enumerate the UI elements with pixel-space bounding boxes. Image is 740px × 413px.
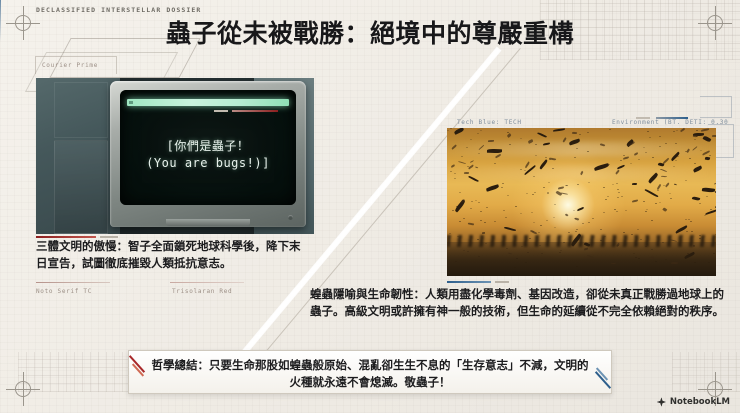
locust-icon — [665, 183, 670, 188]
locust-speck — [492, 150, 494, 151]
left-caption: 三體文明的傲慢：智子全面鎖死地球科學後，降下末日宣告，試圖徹底摧毀人類抵抗意志。 — [36, 238, 308, 273]
locust-speck — [587, 151, 589, 152]
locust-icon — [537, 132, 547, 139]
locust-speck — [480, 211, 482, 212]
locust-speck — [559, 252, 561, 253]
locust-speck — [621, 196, 623, 197]
locust-speck — [617, 197, 619, 198]
locust-speck — [554, 204, 556, 205]
locust-speck — [614, 209, 616, 210]
locust-speck — [568, 232, 570, 233]
locust-speck — [506, 248, 508, 249]
locust-speck — [699, 238, 701, 239]
tick-marker-grey-right-top — [636, 117, 650, 119]
locust-speck — [696, 136, 698, 137]
locust-speck — [576, 229, 578, 230]
locust-speck — [452, 210, 454, 211]
locust-speck — [694, 163, 696, 164]
locust-speck — [533, 222, 535, 223]
locust-speck — [685, 151, 687, 152]
locust-speck — [543, 187, 545, 188]
locust-speck — [670, 198, 672, 199]
locust-speck — [466, 147, 468, 148]
monitor-stand — [166, 219, 250, 226]
label-courier-prime: Courier Prime — [42, 62, 98, 69]
locust-icon — [623, 157, 630, 161]
right-caption: 蝗蟲隱喻與生命韌性：人類用盡化學毒劑、基因改造，卻從未真正戰勝過地球上的蟲子。高… — [310, 286, 728, 321]
locust-speck — [549, 159, 551, 160]
locust-speck — [588, 222, 590, 223]
sparkle-icon — [657, 398, 666, 407]
locust-speck — [676, 130, 678, 131]
locust-speck — [600, 229, 602, 230]
locust-speck — [520, 138, 522, 139]
locust-speck — [547, 192, 549, 193]
locust-icon — [470, 160, 474, 163]
rule-noto — [36, 282, 110, 283]
locust-speck — [616, 183, 618, 184]
locust-icon — [704, 157, 710, 161]
locust-icon — [701, 128, 709, 131]
locust-speck — [531, 212, 533, 213]
locust-speck — [694, 262, 696, 263]
conclusion-text: 哲學總結：只要生命那股如蝗蟲般原始、混亂卻生生不息的「生存意志」不減，文明的火種… — [151, 357, 589, 392]
locust-speck — [609, 129, 611, 130]
locust-speck — [699, 203, 701, 204]
locust-speck — [467, 251, 469, 252]
locust-speck — [690, 221, 692, 222]
kicker-label: DECLASSIFIED INTERSTELLAR DOSSIER — [36, 6, 201, 14]
locust-speck — [463, 218, 465, 219]
tick-marker-blue-right-top — [656, 117, 688, 119]
locust-speck — [640, 239, 642, 240]
locust-speck — [607, 196, 609, 197]
locust-speck — [461, 156, 463, 157]
slide-canvas: DECLASSIFIED INTERSTELLAR DOSSIER 蟲子從未被戰… — [0, 0, 740, 413]
locust-speck — [509, 144, 511, 145]
locust-speck — [566, 185, 568, 186]
locust-speck — [541, 253, 543, 254]
tech-bracket-upper — [700, 96, 732, 118]
locust-icon — [454, 128, 465, 135]
locust-speck — [704, 215, 706, 216]
locust-speck — [655, 203, 657, 204]
locust-icon — [552, 128, 564, 131]
locust-icon — [458, 161, 466, 165]
locust-icon — [663, 207, 667, 211]
locust-speck — [484, 222, 486, 223]
locust-icon — [662, 158, 670, 165]
locust-speck — [554, 227, 556, 228]
locust-speck — [617, 189, 619, 190]
page-title: 蟲子從未被戰勝：絕境中的尊嚴重構 — [0, 14, 740, 50]
locust-icon — [482, 232, 485, 234]
locust-speck — [553, 217, 555, 218]
locust-speck — [673, 131, 675, 132]
locust-speck — [575, 231, 577, 232]
locust-speck — [515, 206, 517, 207]
locust-speck — [477, 133, 479, 134]
locust-speck — [706, 196, 708, 197]
locust-icon — [671, 262, 678, 265]
locust-speck — [709, 155, 711, 156]
locust-speck — [623, 232, 625, 233]
locust-icon — [504, 226, 516, 231]
locust-speck — [459, 221, 461, 222]
locust-speck — [546, 220, 548, 221]
locust-speck — [665, 259, 667, 260]
locust-speck — [631, 234, 633, 235]
locust-icon — [631, 199, 638, 202]
crosshair-icon-bottom-left — [6, 372, 40, 406]
conclusion-box: 哲學總結：只要生命那股如蝗蟲般原始、混亂卻生生不息的「生存意志」不減，文明的火種… — [128, 350, 612, 394]
label-noto-serif: Noto Serif TC — [36, 288, 92, 295]
locust-icon — [468, 222, 474, 225]
locust-speck — [447, 130, 449, 131]
locust-speck — [524, 170, 526, 171]
crt-monitor-image: [你們是蟲子！ (You are bugs!)] — [36, 78, 314, 234]
locust-speck — [526, 193, 528, 194]
locust-icon — [577, 206, 584, 210]
locust-speck — [470, 208, 472, 209]
locust-speck — [689, 158, 691, 159]
locust-speck — [573, 210, 575, 211]
locust-speck — [521, 246, 523, 247]
locust-icon — [692, 197, 700, 202]
locust-speck — [612, 184, 614, 185]
locust-icon — [702, 187, 716, 192]
locust-speck — [505, 217, 507, 218]
locust-speck — [548, 182, 550, 183]
locust-speck — [685, 180, 687, 181]
locust-icon — [675, 225, 688, 234]
locust-speck — [651, 249, 653, 250]
locust-speck — [538, 232, 540, 233]
locust-speck — [708, 262, 710, 263]
locust-speck — [478, 202, 480, 203]
locust-speck — [625, 210, 627, 211]
locust-speck — [560, 250, 562, 251]
locust-speck — [691, 231, 693, 232]
locust-speck — [647, 131, 649, 132]
locust-icon — [649, 257, 654, 259]
locust-speck — [617, 245, 619, 246]
locust-speck — [454, 173, 456, 174]
locust-icon — [712, 135, 716, 137]
locust-speck — [637, 229, 639, 230]
locust-speck — [507, 195, 509, 196]
monitor-power-led — [288, 215, 293, 220]
locust-speck — [659, 136, 661, 137]
locust-icon — [488, 140, 494, 142]
locust-speck — [480, 220, 482, 221]
locust-speck — [454, 178, 456, 179]
locust-speck — [588, 182, 590, 183]
locust-speck — [576, 148, 578, 149]
locust-speck — [685, 219, 687, 220]
locust-speck — [659, 202, 661, 203]
monitor-bezel: [你們是蟲子！ (You are bugs!)] — [110, 81, 306, 227]
locust-speck — [582, 223, 584, 224]
brand-label: NotebookLM — [670, 397, 730, 407]
locust-speck — [630, 163, 632, 164]
locust-speck — [638, 159, 640, 160]
locust-speck — [477, 239, 479, 240]
locust-speck — [502, 183, 504, 184]
locust-icon — [565, 213, 569, 217]
locust-speck — [534, 192, 536, 193]
locust-speck — [475, 200, 477, 201]
locust-speck — [635, 257, 637, 258]
locust-speck — [450, 171, 452, 172]
monitor-screen: [你們是蟲子！ (You are bugs!)] — [120, 90, 296, 205]
locust-icon — [558, 187, 564, 190]
locust-speck — [620, 160, 622, 161]
locust-speck — [618, 192, 620, 193]
locust-speck — [532, 194, 534, 195]
locust-speck — [693, 246, 695, 247]
locust-speck — [480, 130, 482, 131]
label-trisolaran-red: Trisolaran Red — [172, 288, 232, 295]
locust-icon — [656, 184, 661, 190]
locust-speck — [503, 210, 505, 211]
locust-icon — [572, 132, 578, 135]
locust-speck — [646, 209, 648, 210]
locust-speck — [677, 156, 679, 157]
locust-speck — [645, 152, 647, 153]
monitor-message-line1: [你們是蟲子！ — [120, 138, 296, 155]
locust-icon — [632, 183, 637, 186]
locust-speck — [577, 184, 579, 185]
locust-speck — [633, 253, 635, 254]
locust-speck — [651, 220, 653, 221]
tick-marker-blue-right — [447, 281, 491, 283]
locust-speck — [686, 231, 688, 232]
locust-speck — [652, 157, 654, 158]
locust-speck — [450, 128, 452, 129]
tick-marker-red-left — [232, 110, 278, 112]
monitor-message-line2: (You are bugs!)] — [120, 155, 296, 172]
locust-speck — [600, 240, 602, 241]
locust-speck — [696, 130, 698, 131]
tick-marker-grey-right — [495, 281, 509, 283]
locust-speck — [470, 139, 472, 140]
locust-speck — [699, 235, 701, 236]
notebooklm-brand: NotebookLM — [657, 397, 730, 407]
locust-speck — [700, 150, 702, 151]
monitor-message: [你們是蟲子！ (You are bugs!)] — [120, 138, 296, 173]
locust-speck — [657, 190, 659, 191]
locust-speck — [486, 207, 488, 208]
locust-speck — [520, 213, 522, 214]
locust-speck — [608, 164, 610, 165]
rule-trisolaran — [170, 282, 244, 283]
horizon-treeline — [447, 242, 716, 276]
locust-icon — [487, 149, 502, 153]
locust-speck — [605, 199, 607, 200]
tick-marker-grey-left — [214, 110, 228, 112]
locust-speck — [574, 157, 576, 158]
locust-speck — [645, 211, 647, 212]
locust-speck — [535, 155, 537, 156]
locust-speck — [478, 153, 480, 154]
locust-speck — [694, 139, 696, 140]
locust-speck — [547, 193, 549, 194]
locust-speck — [501, 187, 503, 188]
label-tech-blue: Tech Blue: TECH — [457, 119, 522, 126]
locust-icon — [507, 133, 512, 138]
locust-icon — [714, 182, 716, 184]
locust-swarm-image — [447, 128, 716, 276]
locust-speck — [494, 163, 496, 164]
locust-speck — [592, 218, 594, 219]
locust-speck — [649, 137, 651, 138]
locust-speck — [449, 233, 451, 234]
scanline-bar — [127, 99, 289, 106]
locust-speck — [603, 212, 605, 213]
locust-speck — [587, 132, 589, 133]
locust-speck — [623, 155, 625, 156]
locust-speck — [471, 201, 473, 202]
locust-speck — [616, 211, 618, 212]
locust-speck — [675, 160, 677, 161]
locust-speck — [643, 147, 645, 148]
room-wall-left — [36, 78, 120, 234]
locust-speck — [643, 201, 645, 202]
locust-speck — [507, 132, 509, 133]
locust-speck — [459, 192, 461, 193]
locust-speck — [669, 193, 671, 194]
locust-speck — [662, 242, 664, 243]
locust-speck — [540, 225, 542, 226]
locust-speck — [494, 221, 496, 222]
locust-speck — [688, 219, 690, 220]
locust-speck — [579, 134, 581, 135]
locust-icon — [680, 128, 685, 132]
locust-speck — [603, 187, 605, 188]
